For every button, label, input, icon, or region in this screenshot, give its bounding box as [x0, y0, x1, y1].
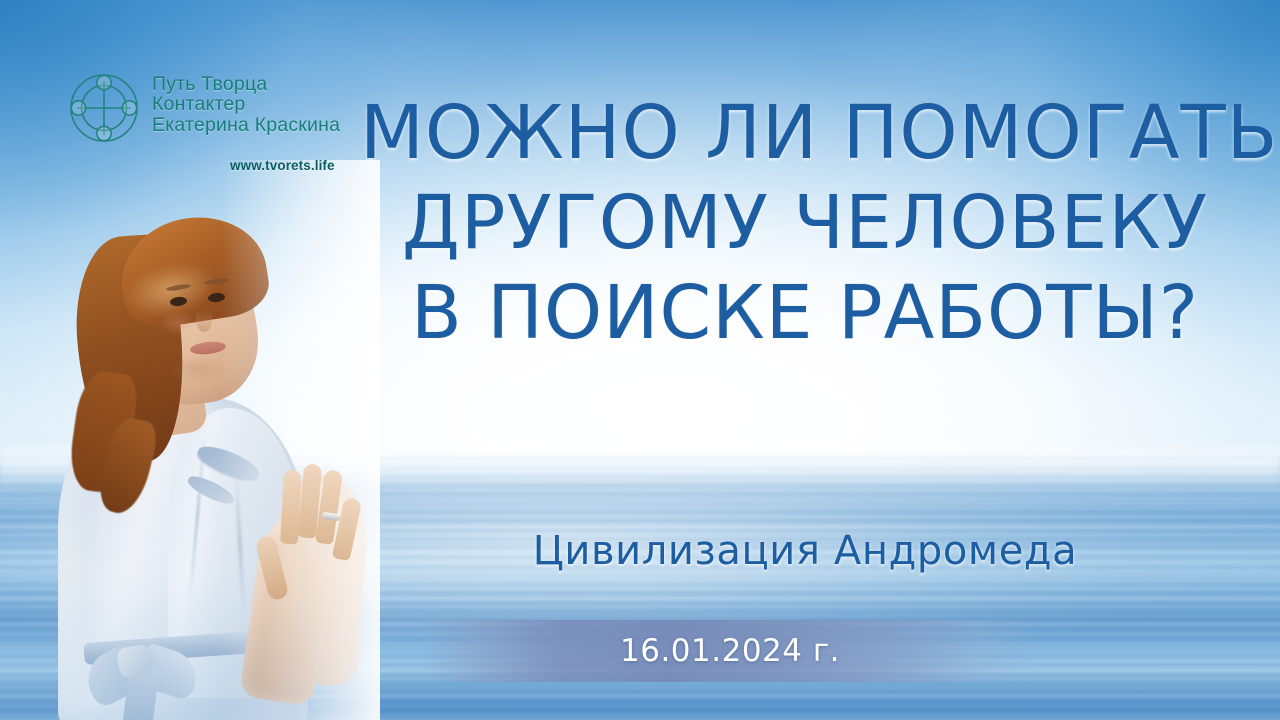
brand-line-1: Путь Творца: [152, 74, 340, 94]
brand-line-3: Екатерина Краскина: [152, 115, 340, 135]
brand-website[interactable]: www.tvorets.life: [230, 158, 335, 173]
brand-text: Путь Творца Контактер Екатерина Краскина: [152, 74, 340, 135]
circle-cross-mandala-icon: [64, 68, 144, 148]
date-band: 16.01.2024 г.: [420, 620, 1040, 682]
presenter-photo: [0, 160, 380, 720]
brand-line-2: Контактер: [152, 94, 340, 114]
brand-logo: Путь Творца Контактер Екатерина Краскина…: [58, 62, 358, 182]
title-line-1: МОЖНО ЛИ ПОМОГАТЬ: [360, 88, 1250, 178]
title-line-2: ДРУГОМУ ЧЕЛОВЕКУ: [360, 178, 1250, 268]
date-label: 16.01.2024 г.: [620, 633, 840, 669]
chin-shading: [168, 356, 228, 382]
nose: [196, 310, 212, 332]
title-line-3: В ПОИСКЕ РАБОТЫ?: [360, 268, 1250, 358]
subtitle: Цивилизация Андромеда: [360, 528, 1250, 574]
cheek-shading: [160, 310, 196, 336]
title-card: Путь Творца Контактер Екатерина Краскина…: [0, 0, 1280, 720]
page-title: МОЖНО ЛИ ПОМОГАТЬ ДРУГОМУ ЧЕЛОВЕКУ В ПОИ…: [360, 88, 1250, 358]
